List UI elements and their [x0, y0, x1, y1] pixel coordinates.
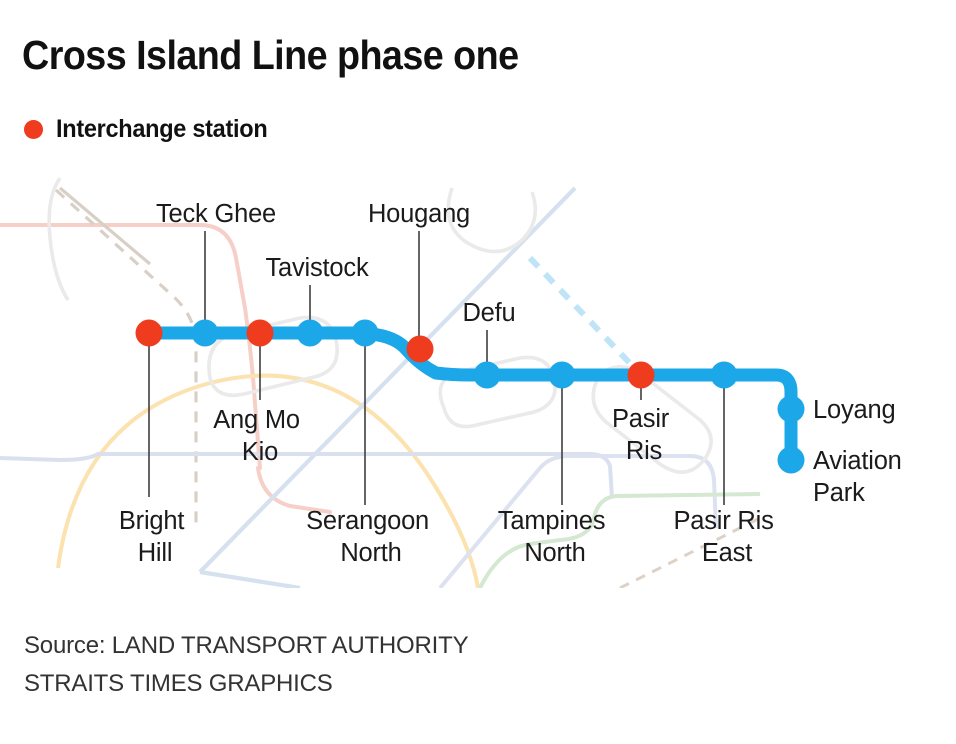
station-marker-hougang[interactable] [407, 336, 434, 363]
transit-map: Teck Ghee Hougang Tavistock Defu Ang Mo … [0, 168, 956, 588]
station-marker-tampines-north[interactable] [549, 362, 576, 389]
source-line-2: STRAITS TIMES GRAPHICS [24, 665, 468, 703]
station-label-loyang: Loyang [813, 396, 895, 424]
station-marker-serangoon-north[interactable] [352, 320, 379, 347]
legend-item-label: Interchange station [56, 115, 267, 144]
station-label-bright-hill: Bright Hill [119, 507, 191, 567]
station-label-defu: Defu [462, 299, 515, 327]
station-label-serangoon-north: Serangoon North [306, 507, 436, 567]
interchange-dot-icon [24, 120, 43, 139]
source-credit: Source: LAND TRANSPORT AUTHORITY STRAITS… [24, 627, 468, 703]
station-marker-teck-ghee[interactable] [192, 320, 219, 347]
station-marker-bright-hill[interactable] [136, 320, 163, 347]
legend: Interchange station [24, 115, 281, 144]
station-label-teck-ghee: Teck Ghee [156, 200, 276, 228]
station-label-tampines-north: Tampines North [498, 507, 612, 567]
station-marker-aviation-park[interactable] [778, 447, 805, 474]
bg-line-lavender-diagonal-b [200, 572, 300, 588]
station-marker-pasir-ris[interactable] [628, 362, 655, 389]
bg-boundary-dashed [56, 190, 196, 528]
station-label-pasir-ris-east: Pasir Ris East [673, 507, 780, 567]
station-marker-loyang[interactable] [778, 396, 805, 423]
station-label-tavistock: Tavistock [265, 254, 369, 282]
station-marker-tavistock[interactable] [297, 320, 324, 347]
infographic-root: Cross Island Line phase one Interchange … [0, 0, 956, 744]
future-extension-dashed-line [530, 258, 641, 375]
station-label-hougang: Hougang [368, 200, 470, 228]
station-marker-pasir-ris-east[interactable] [711, 362, 738, 389]
station-marker-defu[interactable] [474, 362, 501, 389]
station-marker-ang-mo-kio[interactable] [247, 320, 274, 347]
station-label-aviation-park: Aviation Park [813, 447, 909, 507]
source-line-1: Source: LAND TRANSPORT AUTHORITY [24, 627, 468, 665]
page-title: Cross Island Line phase one [22, 32, 519, 79]
station-label-ang-mo-kio: Ang Mo Kio [213, 406, 307, 466]
